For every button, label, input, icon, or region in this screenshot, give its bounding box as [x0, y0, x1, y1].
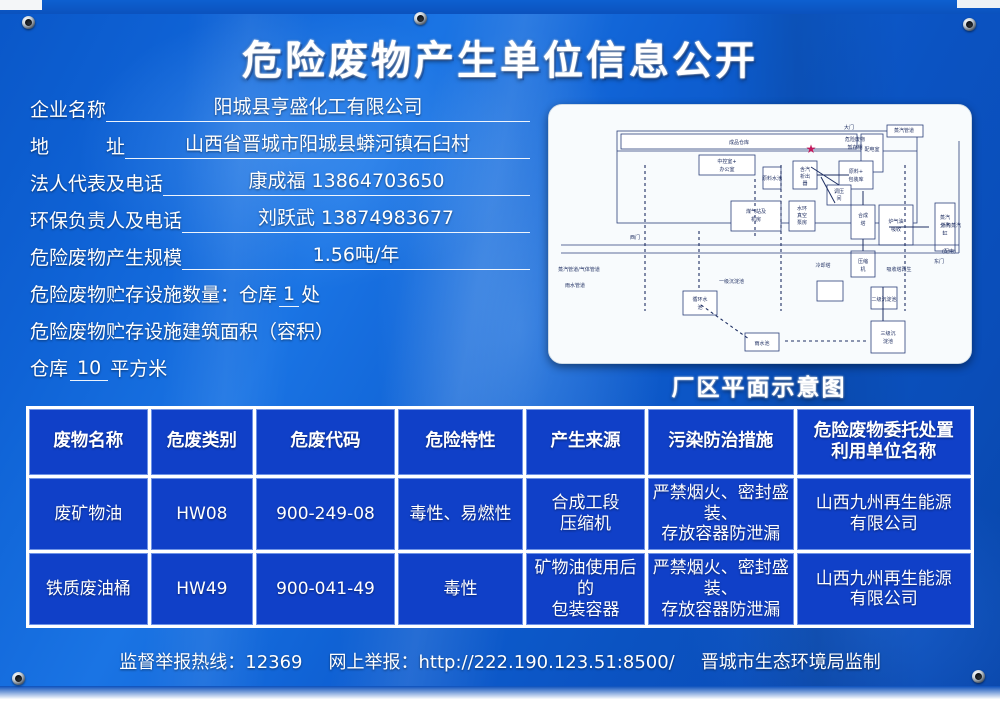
- svg-text:析出: 析出: [800, 173, 810, 180]
- svg-text:外购蒸汽: 外购蒸汽: [941, 222, 961, 229]
- legal-rep-value: 康成福 13864703650: [163, 166, 530, 196]
- svg-text:雨水池: 雨水池: [754, 340, 769, 347]
- cell-source: 合成工段压缩机: [526, 478, 645, 550]
- header-measures: 污染防治措施: [648, 409, 794, 475]
- svg-text:压缩: 压缩: [858, 258, 868, 265]
- svg-text:大门: 大门: [844, 124, 854, 131]
- facility-area-label: 危险废物贮存设施建筑面积（容积）: [30, 317, 334, 344]
- facility-count-label: 危险废物贮存设施数量：仓库: [30, 280, 277, 307]
- svg-text:机房: 机房: [751, 216, 761, 223]
- info-row-facility-area-label: 危险废物贮存设施建筑面积（容积）: [30, 318, 530, 344]
- svg-text:西门: 西门: [630, 234, 640, 241]
- hazardous-waste-table: 废物名称 危废类别 危废代码 危险特性 产生来源 污染防治措施 危险废物委托处置…: [26, 406, 974, 628]
- table-row: 铁质废油桶 HW49 900-041-49 毒性 矿物油使用后的包装容器 严禁烟…: [29, 553, 971, 625]
- svg-text:合成: 合成: [858, 212, 868, 219]
- env-officer-value: 刘跃武 13874983677: [182, 203, 530, 233]
- cell-hazard: 毒性: [398, 553, 523, 625]
- svg-text:含汽: 含汽: [800, 166, 810, 173]
- svg-text:蒸汽管道: 蒸汽管道: [894, 127, 914, 134]
- facility-count-unit: 处: [301, 280, 320, 307]
- info-row-address: 地 址 山西省晋城市阳城县蟒河镇石臼村: [30, 133, 530, 159]
- facility-area-value: 10: [70, 357, 108, 381]
- cell-measures: 严禁烟火、密封盛装、存放容器防泄漏: [648, 478, 794, 550]
- facility-area-unit: 平方米: [110, 354, 167, 381]
- svg-text:东门: 东门: [934, 258, 944, 265]
- svg-text:间: 间: [836, 195, 841, 202]
- cell-code: 900-041-49: [256, 553, 395, 625]
- info-row-facility-area-value: 仓库 10 平方米: [30, 355, 530, 381]
- site-plan-diagram: ★ 成品仓库 配电室 中控室+ 办公室 原料水池 含汽 析出 器 原料+ 包装库…: [548, 104, 972, 364]
- svg-text:雨水管道: 雨水管道: [565, 282, 585, 289]
- svg-text:(配电): (配电): [942, 248, 956, 255]
- info-row-legal-rep: 法人代表及电话 康成福 13864703650: [30, 170, 530, 196]
- svg-text:成品仓库: 成品仓库: [729, 139, 749, 146]
- info-row-company: 企业名称 阳城县亨盛化工有限公司: [30, 96, 530, 122]
- svg-text:中控室+: 中控室+: [717, 158, 736, 165]
- svg-text:冷却塔: 冷却塔: [815, 262, 830, 269]
- svg-text:淀池: 淀池: [883, 338, 893, 345]
- svg-text:吸收塔再生: 吸收塔再生: [886, 266, 911, 273]
- cell-code: 900-249-08: [256, 478, 395, 550]
- svg-text:塔: 塔: [860, 220, 865, 227]
- svg-text:蒸汽: 蒸汽: [940, 214, 950, 221]
- svg-text:真空: 真空: [797, 212, 807, 219]
- svg-text:调压: 调压: [834, 188, 844, 195]
- svg-text:二级沉淀池: 二级沉淀池: [871, 296, 896, 303]
- svg-text:一级沉淀池: 一级沉淀池: [719, 278, 744, 285]
- svg-text:包装库: 包装库: [848, 176, 863, 183]
- cell-measures: 严禁烟火、密封盛装、存放容器防泄漏: [648, 553, 794, 625]
- address-label: 地 址: [30, 132, 125, 159]
- company-label: 企业名称: [30, 95, 106, 122]
- scale-label: 危险废物产生规模: [30, 243, 182, 270]
- header-waste-name: 废物名称: [29, 409, 148, 475]
- header-code: 危废代码: [256, 409, 395, 475]
- cell-category: HW49: [151, 553, 253, 625]
- info-row-facility-count: 危险废物贮存设施数量：仓库 1 处: [30, 281, 530, 307]
- svg-text:缸: 缸: [942, 230, 947, 237]
- cell-waste-name: 铁质废油桶: [29, 553, 148, 625]
- board-top-right-notch: [957, 0, 1000, 8]
- svg-text:池: 池: [697, 304, 702, 311]
- svg-text:配电室: 配电室: [864, 146, 879, 153]
- header-entrusted: 危险废物委托处置利用单位名称: [797, 409, 971, 475]
- svg-text:原料+: 原料+: [849, 168, 863, 175]
- header-category: 危废类别: [151, 409, 253, 475]
- scale-value: 1.56吨/年: [182, 240, 530, 270]
- table-header-row: 废物名称 危废类别 危废代码 危险特性 产生来源 污染防治措施 危险废物委托处置…: [29, 409, 971, 475]
- hazardous-waste-marker-icon: ★: [806, 142, 817, 156]
- svg-text:暂存棚: 暂存棚: [847, 144, 862, 151]
- svg-text:办公室: 办公室: [719, 166, 734, 173]
- footer-authority: 晋城市生态环境局监制: [701, 648, 881, 674]
- cell-source: 矿物油使用后的包装容器: [526, 553, 645, 625]
- company-value: 阳城县亨盛化工有限公司: [106, 92, 530, 122]
- facility-count-value: 1: [279, 283, 299, 307]
- legal-rep-label: 法人代表及电话: [30, 169, 163, 196]
- cell-category: HW08: [151, 478, 253, 550]
- svg-text:炉气油: 炉气油: [888, 218, 903, 225]
- svg-text:水环: 水环: [797, 205, 807, 212]
- svg-text:器: 器: [802, 181, 807, 187]
- mounting-bolt-icon: [414, 12, 427, 25]
- svg-text:吸收: 吸收: [891, 226, 901, 233]
- svg-text:煤气站及: 煤气站及: [746, 208, 766, 215]
- svg-text:原料水池: 原料水池: [762, 175, 782, 182]
- table-row: 废矿物油 HW08 900-249-08 毒性、易燃性 合成工段压缩机 严禁烟火…: [29, 478, 971, 550]
- header-hazard: 危险特性: [398, 409, 523, 475]
- company-info-block: 企业名称 阳城县亨盛化工有限公司 地 址 山西省晋城市阳城县蟒河镇石臼村 法人代…: [30, 96, 530, 392]
- svg-text:循环水: 循环水: [692, 296, 707, 303]
- site-plan-svg: ★ 成品仓库 配电室 中控室+ 办公室 原料水池 含汽 析出 器 原料+ 包装库…: [549, 105, 971, 363]
- board-top-edge: [0, 0, 1000, 14]
- svg-text:泵房: 泵房: [797, 219, 807, 226]
- info-row-env-officer: 环保负责人及电话 刘跃武 13874983677: [30, 207, 530, 233]
- address-value: 山西省晋城市阳城县蟒河镇石臼村: [125, 129, 530, 159]
- cell-hazard: 毒性、易燃性: [398, 478, 523, 550]
- cell-waste-name: 废矿物油: [29, 478, 148, 550]
- board-top-left-notch: [0, 0, 42, 10]
- board-bottom-edge: [0, 686, 1000, 703]
- header-source: 产生来源: [526, 409, 645, 475]
- footer-hotline: 监督举报热线：12369: [119, 648, 302, 674]
- env-officer-label: 环保负责人及电话: [30, 206, 182, 233]
- facility-area-prefix: 仓库: [30, 354, 68, 381]
- cell-entrusted: 山西九州再生能源有限公司: [797, 553, 971, 625]
- diagram-caption: 厂区平面示意图: [548, 368, 970, 402]
- svg-text:机: 机: [860, 266, 865, 273]
- cell-entrusted: 山西九州再生能源有限公司: [797, 478, 971, 550]
- svg-text:危险废物: 危险废物: [845, 136, 865, 143]
- info-row-scale: 危险废物产生规模 1.56吨/年: [30, 244, 530, 270]
- page-title: 危险废物产生单位信息公开: [0, 28, 1000, 86]
- information-board: 危险废物产生单位信息公开 企业名称 阳城县亨盛化工有限公司 地 址 山西省晋城市…: [0, 0, 1000, 703]
- footer: 监督举报热线：12369 网上举报：http://222.190.123.51:…: [0, 648, 1000, 674]
- footer-online-report: 网上举报：http://222.190.123.51:8500/: [329, 648, 675, 674]
- svg-text:蒸汽管道/气体管道: 蒸汽管道/气体管道: [558, 266, 600, 273]
- svg-text:三级沉: 三级沉: [880, 330, 895, 337]
